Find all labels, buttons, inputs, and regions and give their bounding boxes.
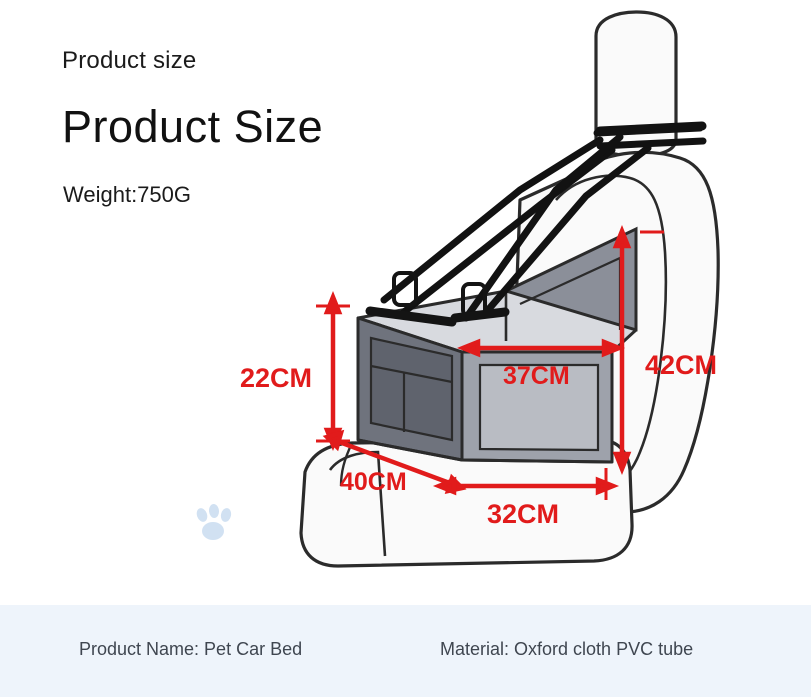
- dimension-label-back-height: 42CM: [645, 350, 717, 381]
- dimension-label-base-depth: 40CM: [340, 468, 407, 497]
- footer-material: Material: Oxford cloth PVC tube: [440, 639, 693, 660]
- eyebrow-label: Product size: [62, 47, 196, 75]
- footer-product-name: Product Name: Pet Car Bed: [79, 639, 302, 660]
- strap-top-bar: [600, 126, 702, 131]
- page-title: Product Size: [62, 101, 323, 153]
- product-size-infographic: Product size Product Size Weight:750G 22…: [0, 0, 811, 697]
- dimension-label-height-side: 22CM: [240, 363, 312, 394]
- paw-print-icon: [195, 504, 232, 540]
- weight-label: Weight:750G: [63, 182, 191, 208]
- dimension-label-top-width: 37CM: [503, 362, 570, 391]
- pet-bed-drawing: [358, 229, 636, 462]
- dimension-label-base-width: 32CM: [487, 499, 559, 530]
